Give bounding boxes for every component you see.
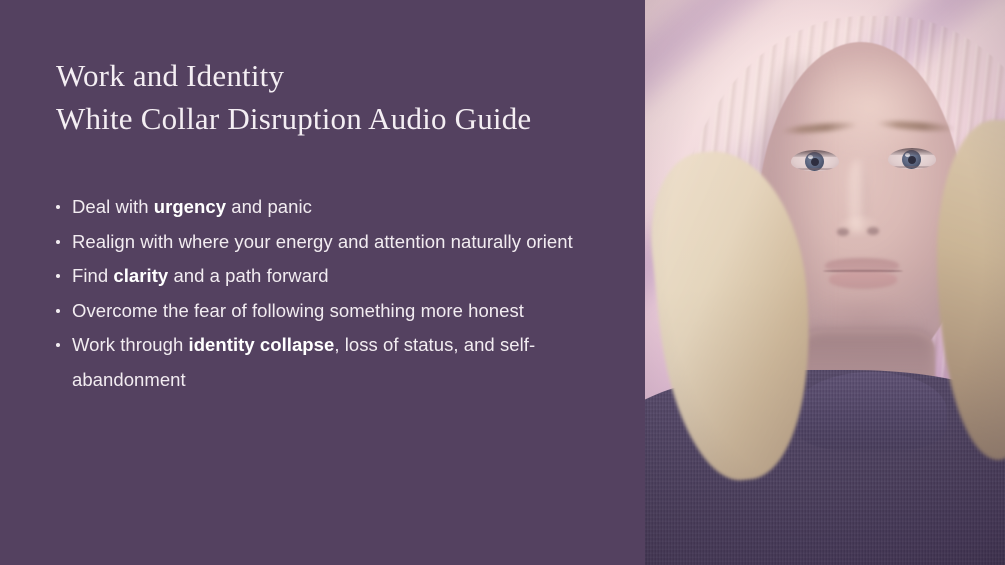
emphasis-text: urgency: [154, 196, 226, 217]
plain-text: Find: [72, 265, 113, 286]
list-item-text: Realign with where your energy and atten…: [72, 231, 573, 252]
plain-text: and panic: [226, 196, 312, 217]
photo-vignette: [645, 0, 1005, 565]
page-title: Work and Identity White Collar Disruptio…: [56, 54, 626, 140]
list-item-text: Work through identity collapse, loss of …: [72, 334, 535, 390]
plain-text: Realign with where your energy and atten…: [72, 231, 573, 252]
title-line-2: White Collar Disruption Audio Guide: [56, 97, 626, 140]
bullet-dot-icon: [56, 274, 60, 278]
bullet-dot-icon: [56, 205, 60, 209]
list-item: Work through identity collapse, loss of …: [56, 328, 616, 397]
plain-text: Deal with: [72, 196, 154, 217]
emphasis-text: identity collapse: [189, 334, 335, 355]
bullet-dot-icon: [56, 343, 60, 347]
bullet-dot-icon: [56, 309, 60, 313]
list-item: Realign with where your energy and atten…: [56, 225, 616, 260]
list-item: Overcome the fear of following something…: [56, 294, 616, 329]
portrait-photo: [645, 0, 1005, 565]
plain-text: and a path forward: [168, 265, 328, 286]
list-item-text: Deal with urgency and panic: [72, 196, 312, 217]
bullet-list: Deal with urgency and panic Realign with…: [56, 190, 616, 398]
slide-root: Work and Identity White Collar Disruptio…: [0, 0, 1005, 565]
emphasis-text: clarity: [113, 265, 168, 286]
list-item-text: Find clarity and a path forward: [72, 265, 329, 286]
plain-text: Work through: [72, 334, 189, 355]
title-line-1: Work and Identity: [56, 54, 626, 97]
bullet-dot-icon: [56, 240, 60, 244]
list-item-text: Overcome the fear of following something…: [72, 300, 524, 321]
plain-text: Overcome the fear of following something…: [72, 300, 524, 321]
list-item: Deal with urgency and panic: [56, 190, 616, 225]
list-item: Find clarity and a path forward: [56, 259, 616, 294]
text-panel: Work and Identity White Collar Disruptio…: [0, 0, 645, 565]
